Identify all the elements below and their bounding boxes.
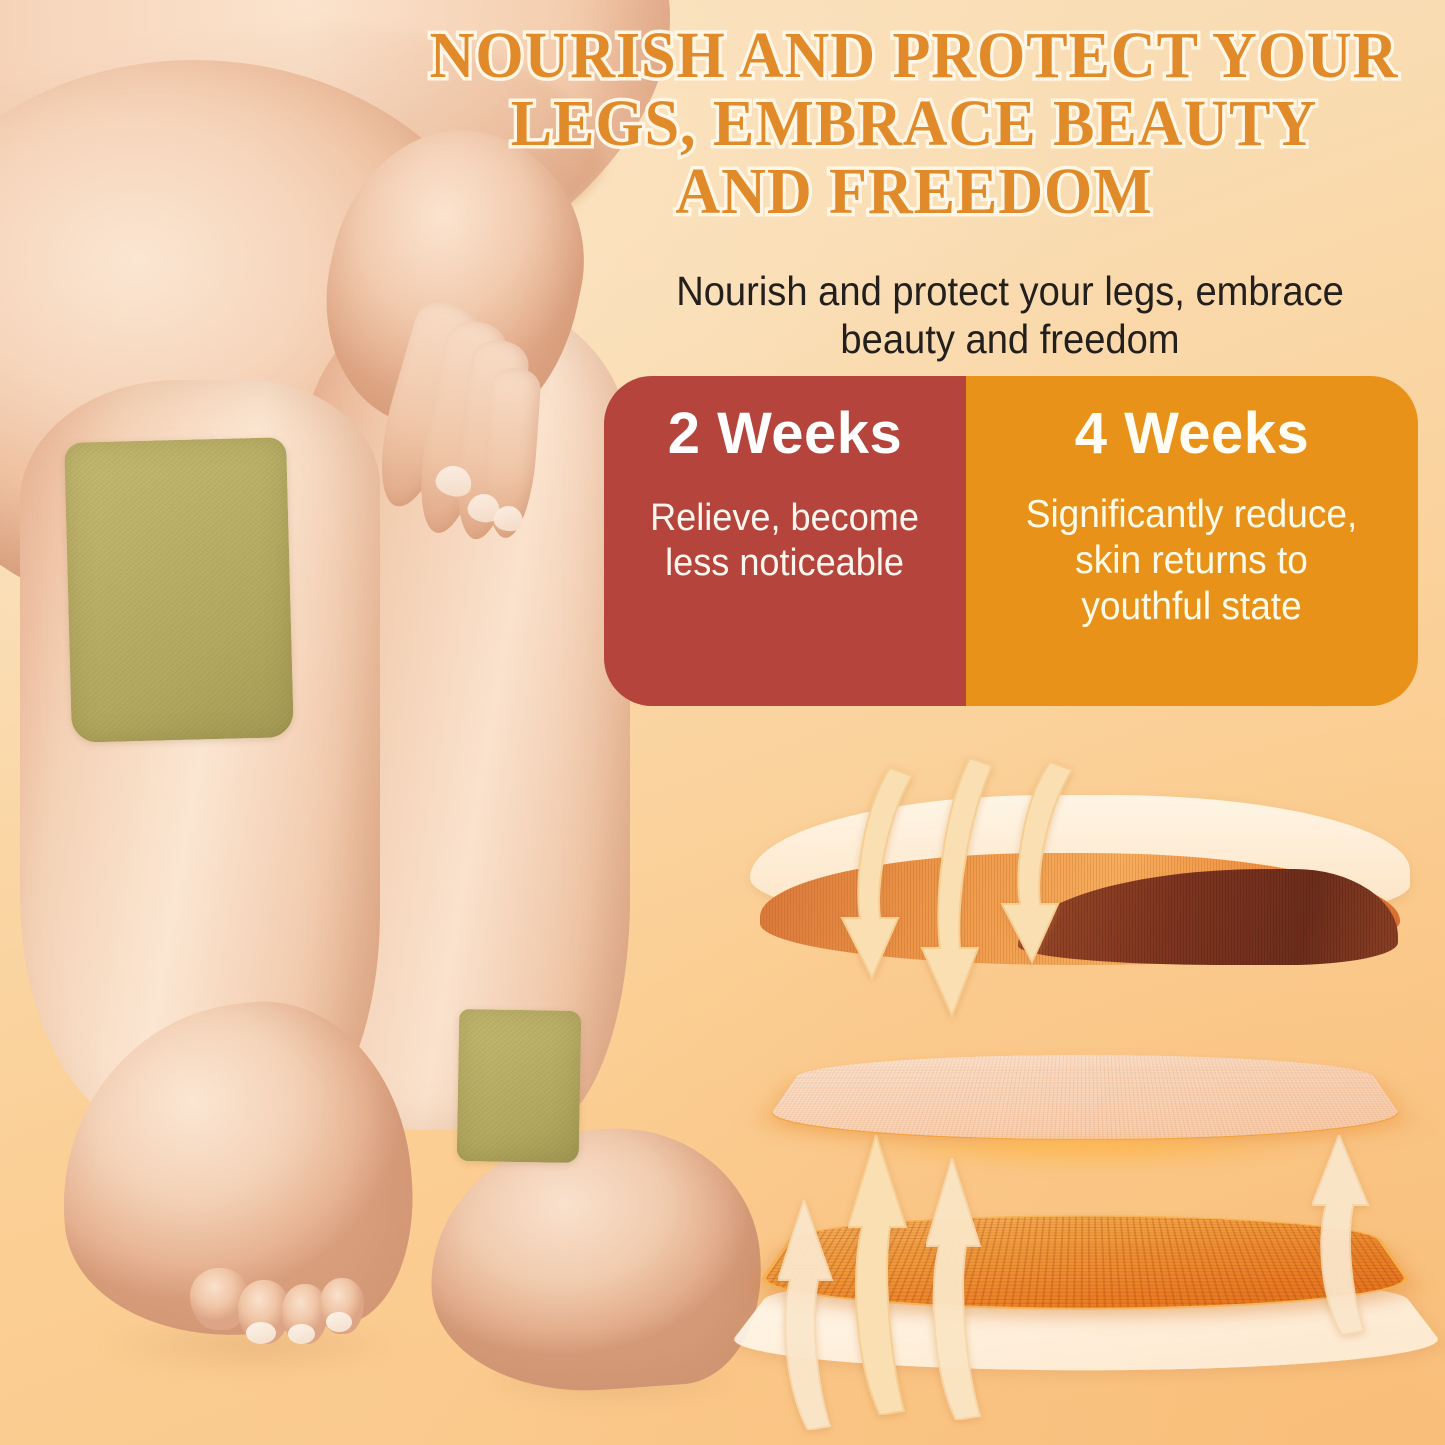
panel-2-weeks-desc-line-2: less noticeable	[651, 541, 920, 586]
panel-2-weeks-description: Relieve, become less noticeable	[637, 496, 932, 586]
subtitle-line-2: beauty and freedom	[610, 316, 1410, 364]
panel-2-weeks-desc-line-1: Relieve, become	[651, 496, 920, 541]
heat-arrow-up-icon	[1312, 1135, 1382, 1335]
herbal-patch-ankle	[457, 1009, 582, 1163]
panel-4-weeks-title: 4 Weeks	[1075, 402, 1310, 466]
panel-4-weeks: 4 Weeks Significantly reduce, skin retur…	[966, 376, 1418, 706]
absorption-arrow-down-icon	[918, 758, 1002, 1048]
heat-arrow-up-icon	[778, 1200, 848, 1430]
subtitle-line-1: Nourish and protect your legs, embrace	[610, 268, 1410, 316]
absorption-arrow-down-icon	[998, 762, 1082, 997]
panel-4-weeks-desc-line-3: youthful state	[1026, 584, 1358, 630]
headline-line-3: AND FREEDOM	[429, 158, 1399, 226]
heat-arrow-up-icon	[926, 1158, 998, 1420]
product-ad-image: NOURISH AND PROTECT YOUR LEGS, EMBRACE B…	[0, 0, 1445, 1445]
panel-4-weeks-desc-line-1: Significantly reduce,	[1026, 492, 1358, 538]
heat-arrow-up-icon	[848, 1135, 924, 1415]
absorption-arrow-down-icon	[838, 768, 922, 1018]
headline-line-2: LEGS, EMBRACE BEAUTY	[429, 90, 1399, 158]
panel-4-weeks-desc-line-2: skin returns to	[1026, 538, 1358, 584]
herbal-patch-calf	[64, 437, 294, 743]
panel-4-weeks-description: Significantly reduce, skin returns to yo…	[1013, 492, 1371, 630]
panel-2-weeks: 2 Weeks Relieve, become less noticeable	[604, 376, 966, 706]
layer-breathable-mesh	[754, 1055, 1417, 1139]
headline: NOURISH AND PROTECT YOUR LEGS, EMBRACE B…	[429, 22, 1399, 226]
subtitle: Nourish and protect your legs, embrace b…	[610, 268, 1410, 364]
exploded-patch-diagram	[730, 740, 1445, 1390]
results-timeline-box: 2 Weeks Relieve, become less noticeable …	[604, 376, 1418, 706]
panel-2-weeks-title: 2 Weeks	[668, 402, 903, 466]
toes	[190, 1250, 380, 1360]
headline-line-1: NOURISH AND PROTECT YOUR	[429, 22, 1399, 90]
